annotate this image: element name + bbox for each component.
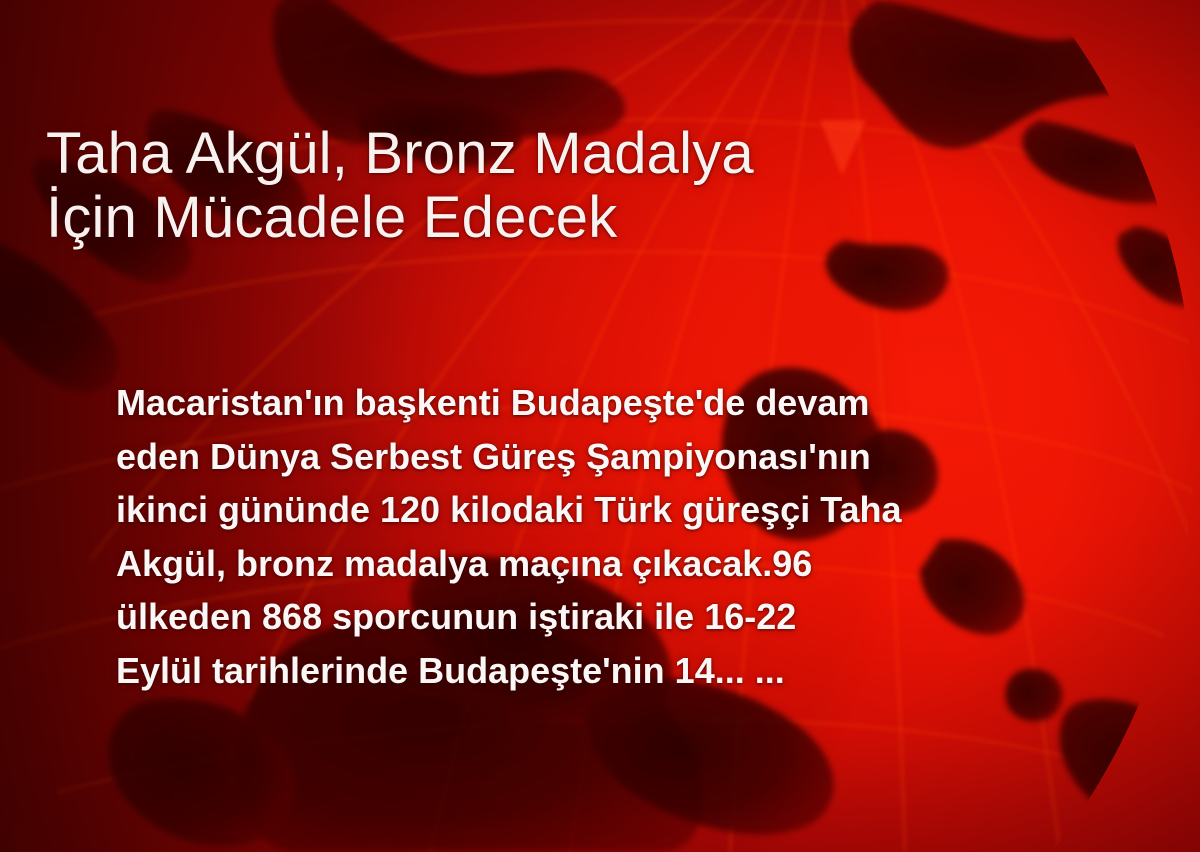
news-thumbnail-card: Taha Akgül, Bronz Madalya İçin Mücadele … xyxy=(0,0,1200,852)
page-title: Taha Akgül, Bronz Madalya İçin Mücadele … xyxy=(46,122,1166,250)
article-summary: Macaristan'ın başkenti Budapeşte'de deva… xyxy=(116,376,1156,697)
